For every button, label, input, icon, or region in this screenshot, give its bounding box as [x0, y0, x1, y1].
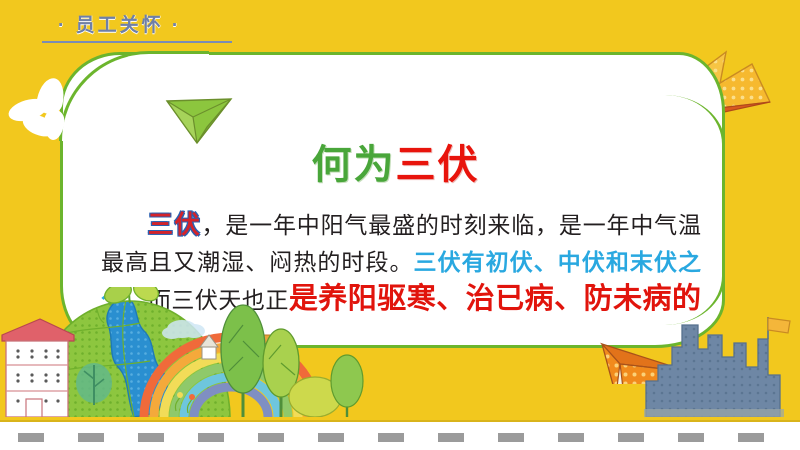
road-dash [378, 433, 404, 442]
bottom-illustration [0, 285, 800, 450]
road-dash [618, 433, 644, 442]
city-skyline-illustration [642, 309, 792, 422]
road-dash [18, 433, 44, 442]
header: · 员工关怀 · [58, 14, 278, 48]
road-dash [738, 433, 764, 442]
road-dash [318, 433, 344, 442]
road-dash [138, 433, 164, 442]
slide-title: 何为三伏 [63, 143, 728, 187]
road [0, 420, 800, 450]
road-dash [498, 433, 524, 442]
slide-root: · 员工关怀 · [0, 0, 800, 450]
road-dash [198, 433, 224, 442]
keyword-sanfu: 三伏 [147, 211, 201, 239]
slide-title-red: 三伏 [396, 143, 480, 187]
apartment-building-illustration [0, 313, 76, 422]
trees-illustration [215, 301, 375, 422]
white-leaf-cluster [8, 76, 78, 146]
green-paper-airplane-icon [163, 93, 235, 149]
road-dash [678, 433, 704, 442]
road-dash [438, 433, 464, 442]
road-dash [78, 433, 104, 442]
road-edge [0, 420, 800, 422]
road-dash [558, 433, 584, 442]
page-title: · 员工关怀 · [58, 14, 278, 38]
road-dash [258, 433, 284, 442]
header-underline [42, 41, 232, 43]
slide-title-green: 何为 [312, 143, 396, 187]
